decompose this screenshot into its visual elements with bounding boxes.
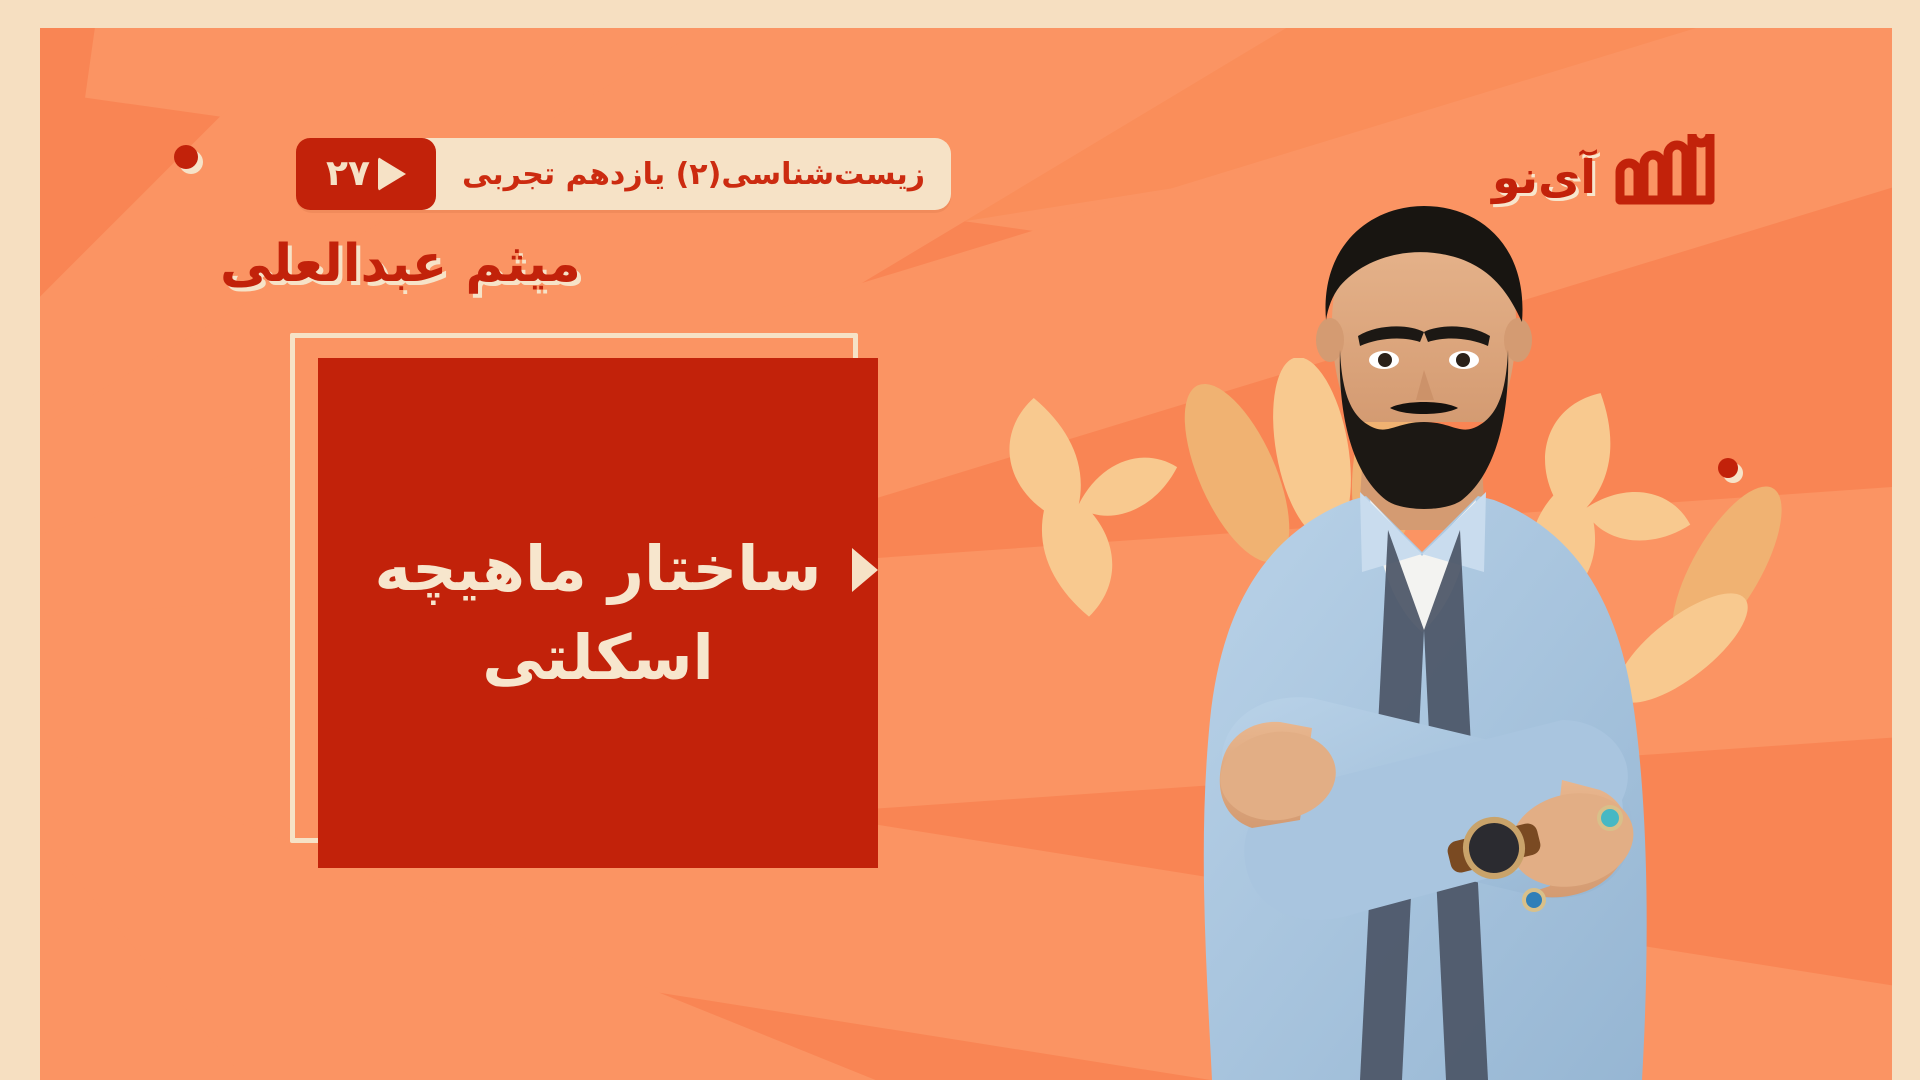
main-title-line-2: اسکلتی (482, 622, 714, 693)
chevron-right-icon (852, 548, 878, 592)
lesson-number-chip[interactable]: ۲۷ (296, 138, 436, 210)
dot-core (174, 145, 198, 169)
decorative-dot-bottom-right (1718, 458, 1738, 478)
thumbnail-root: ۲۷ زیست‌شناسی(۲) یازدهم تجربی میثم عبدال… (0, 0, 1920, 1080)
course-title: زیست‌شناسی(۲) یازدهم تجربی (436, 157, 951, 192)
play-icon (378, 157, 406, 191)
main-title-box: ساختار ماهیچه اسکلتی (318, 358, 878, 868)
instructor-name: میثم عبدالعلی (220, 234, 581, 294)
main-title-line-1: ساختار ماهیچه (374, 533, 821, 604)
lesson-badge-bar[interactable]: ۲۷ زیست‌شناسی(۲) یازدهم تجربی (296, 138, 951, 210)
instructor-photo (1102, 200, 1742, 1080)
instructor-name-wrap: میثم عبدالعلی (40, 234, 1050, 294)
hand-bars-icon (1610, 120, 1722, 206)
decorative-dot-top-left (174, 145, 198, 169)
poster-canvas: ۲۷ زیست‌شناسی(۲) یازدهم تجربی میثم عبدال… (40, 28, 1892, 1080)
brand-logo[interactable]: آی‌نو (1492, 120, 1722, 206)
brand-logo-text: آی‌نو (1492, 154, 1596, 206)
lesson-number: ۲۷ (326, 156, 370, 192)
dot-core (1718, 458, 1738, 478)
